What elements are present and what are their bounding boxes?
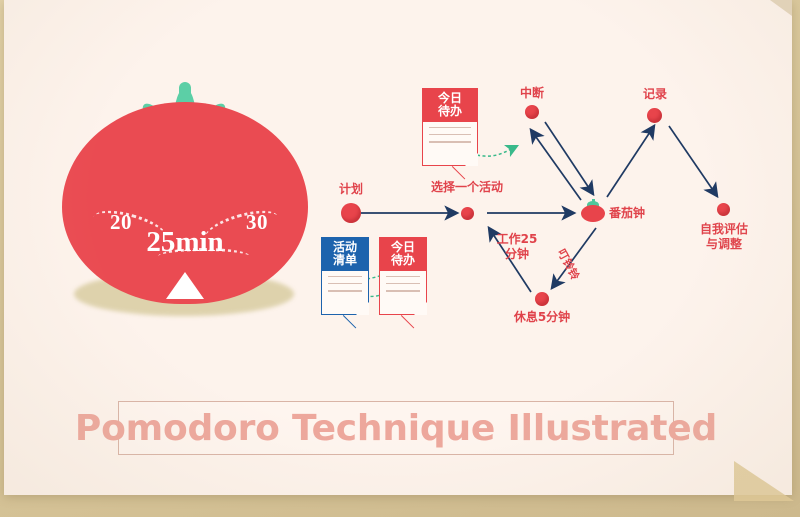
- card-line: [429, 127, 471, 128]
- mini-tomato-body: [581, 205, 605, 222]
- card-line: [328, 290, 362, 291]
- tomato-body: 20 30 25min: [62, 102, 308, 304]
- label-pomodoro: 番茄钟: [609, 206, 645, 220]
- workflow-diagram: 计划 选择一个活动 中断 番茄钟 记录 自我评估 与调整 休息5分钟 工作25 …: [309, 60, 779, 360]
- card-line: [386, 276, 420, 277]
- card-line: [386, 283, 420, 284]
- label-choose-activity: 选择一个活动: [431, 180, 503, 194]
- card-lines: [423, 122, 477, 165]
- node-plan[interactable]: [341, 203, 361, 223]
- node-interrupt[interactable]: [525, 105, 539, 119]
- timer-center-value: 25min: [62, 226, 308, 259]
- card-today-todo-top[interactable]: 今日 待办: [422, 88, 478, 166]
- label-plan: 计划: [339, 182, 363, 196]
- paper-fold-bottom-right: [734, 461, 794, 501]
- label-record: 记录: [643, 87, 667, 101]
- page-title: Pomodoro Technique Illustrated: [75, 408, 717, 449]
- label-work-25-line1: 工作25: [497, 232, 538, 246]
- card-today-todo-bottom[interactable]: 今日 待办: [379, 237, 427, 315]
- node-rest[interactable]: [535, 292, 549, 306]
- card-line: [429, 134, 471, 135]
- card-header: 今日 待办: [423, 89, 477, 122]
- label-rest: 休息5分钟: [514, 310, 570, 324]
- node-record[interactable]: [647, 108, 662, 123]
- node-self-review[interactable]: [717, 203, 730, 216]
- card-title-line2: 待办: [391, 254, 415, 267]
- card-title-line2: 清单: [333, 254, 357, 267]
- card-header: 今日 待办: [380, 238, 426, 271]
- card-line: [386, 290, 420, 291]
- node-choose-activity[interactable]: [461, 207, 474, 220]
- label-self-review-line1: 自我评估: [700, 222, 748, 236]
- card-activity-list[interactable]: 活动 清单: [321, 237, 369, 315]
- title-banner: Pomodoro Technique Illustrated: [118, 401, 674, 455]
- card-line: [328, 276, 362, 277]
- screenshot-root: 20 30 25min: [0, 0, 800, 517]
- card-lines: [322, 271, 368, 314]
- label-self-review-line2: 与调整: [706, 237, 742, 251]
- paper-sheet: 20 30 25min: [4, 0, 792, 495]
- card-header: 活动 清单: [322, 238, 368, 271]
- card-line: [328, 283, 362, 284]
- label-interrupt: 中断: [520, 86, 544, 100]
- triangle-pointer-icon: [166, 272, 204, 299]
- tomato-timer-illustration: 20 30 25min: [46, 76, 326, 326]
- label-work-25-line2: 分钟: [505, 247, 529, 261]
- pomodoro-tomato-icon[interactable]: [581, 201, 605, 222]
- card-line: [429, 141, 471, 142]
- card-title-line2: 待办: [438, 105, 462, 118]
- paper-fold-top-right: [770, 0, 792, 16]
- card-lines: [380, 271, 426, 314]
